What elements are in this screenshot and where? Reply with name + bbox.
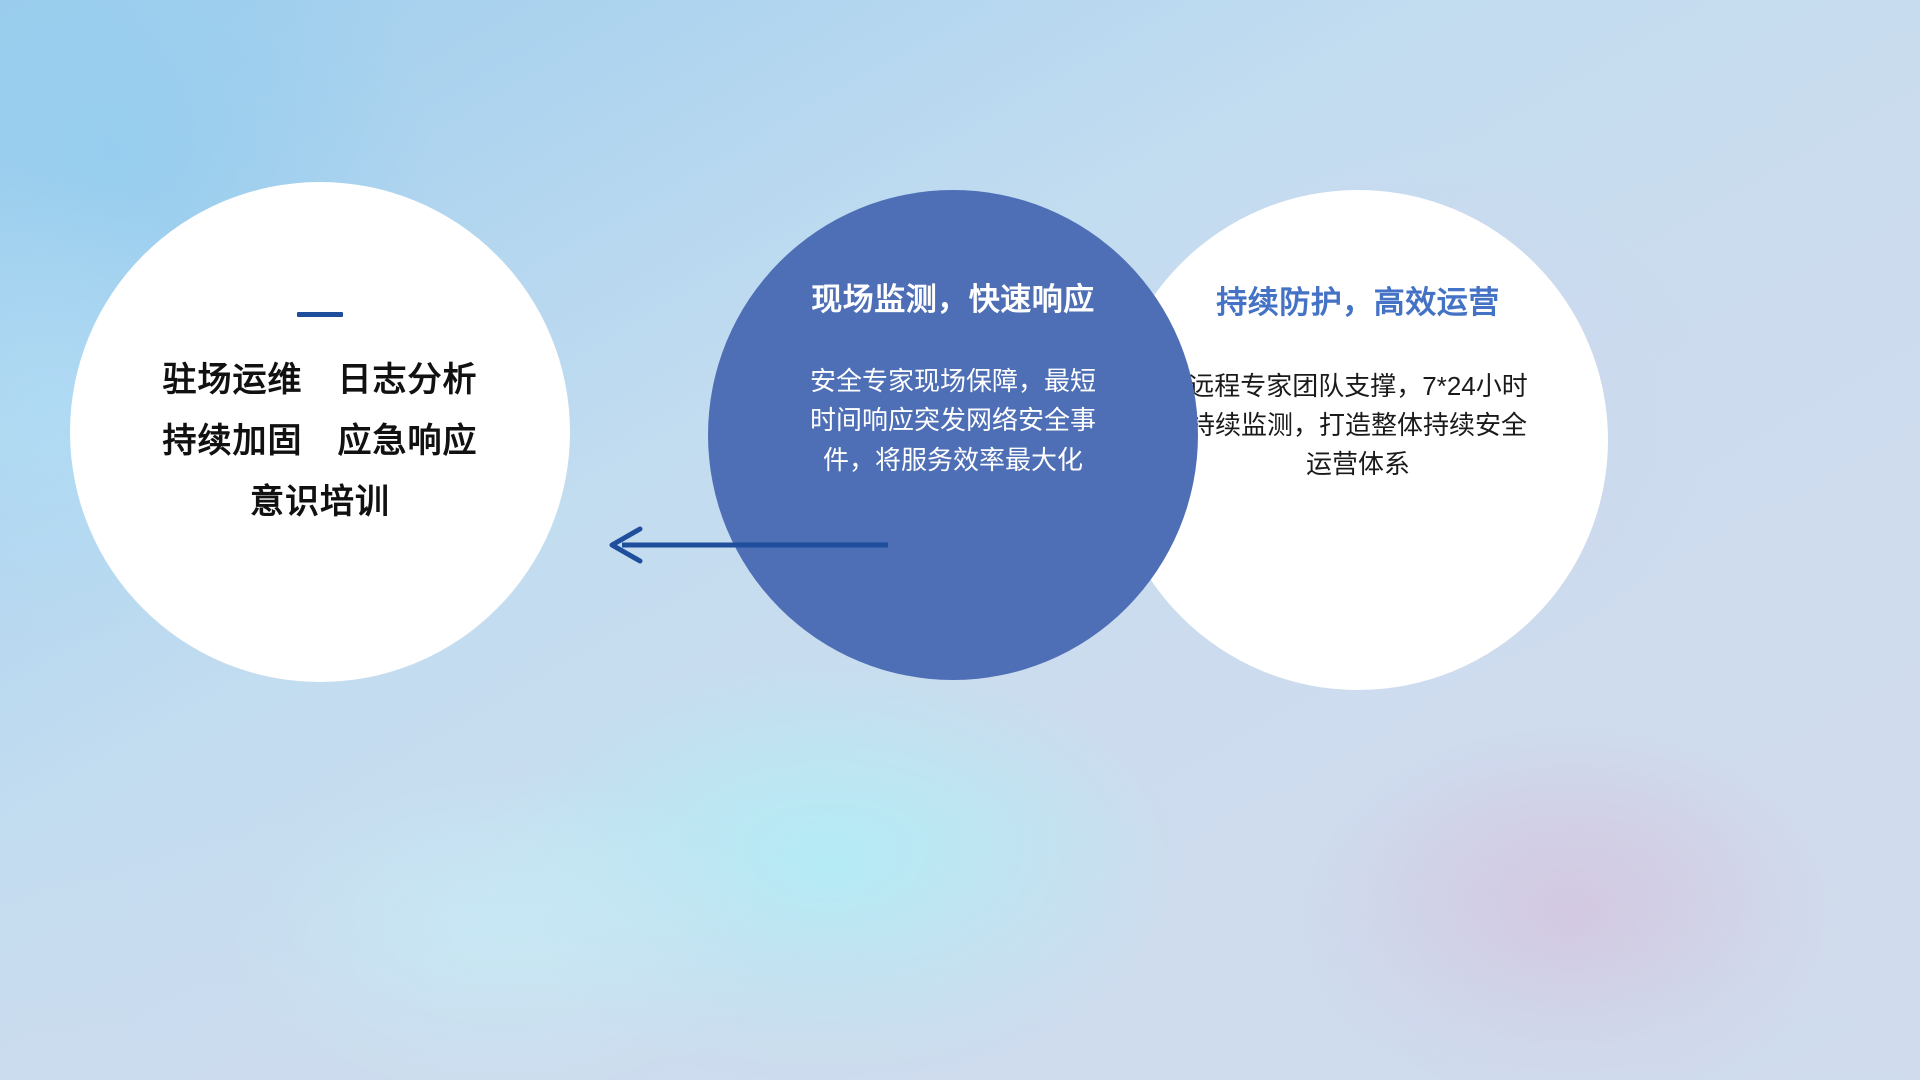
right-circle-body: 远程专家团队支撑，7*24小时持续监测，打造整体持续安全运营体系 [1178, 367, 1538, 484]
left-circle-line-2: 持续加固 应急响应 [163, 424, 478, 458]
left-circle-content: 驻场运维 日志分析 持续加固 应急响应 意识培训 [70, 312, 570, 519]
middle-circle-title: 现场监测，快速响应 [811, 282, 1095, 318]
left-circle-line-1: 驻场运维 日志分析 [163, 363, 478, 397]
left-circle-line-3: 意识培训 [250, 485, 390, 519]
flow-arrow-left-icon [600, 515, 890, 575]
right-circle-title: 持续防护，高效运营 [1216, 285, 1500, 321]
middle-circle-body: 安全专家现场保障，最短时间响应突发网络安全事件，将服务效率最大化 [803, 362, 1103, 481]
driven-operations-circle[interactable]: 驻场运维 日志分析 持续加固 应急响应 意识培训 [70, 182, 570, 682]
slide-canvas: 驻场运维 日志分析 持续加固 应急响应 意识培训 持续防护，高效运营 远程专家团… [0, 0, 1920, 1080]
middle-circle-content: 现场监测，快速响应 安全专家现场保障，最短时间响应突发网络安全事件，将服务效率最… [788, 282, 1118, 480]
right-circle-content: 持续防护，高效运营 远程专家团队支撑，7*24小时持续监测，打造整体持续安全运营… [1178, 285, 1538, 484]
divider-dash-icon [297, 312, 343, 317]
onsite-monitoring-circle[interactable]: 现场监测，快速响应 安全专家现场保障，最短时间响应突发网络安全事件，将服务效率最… [708, 190, 1198, 680]
